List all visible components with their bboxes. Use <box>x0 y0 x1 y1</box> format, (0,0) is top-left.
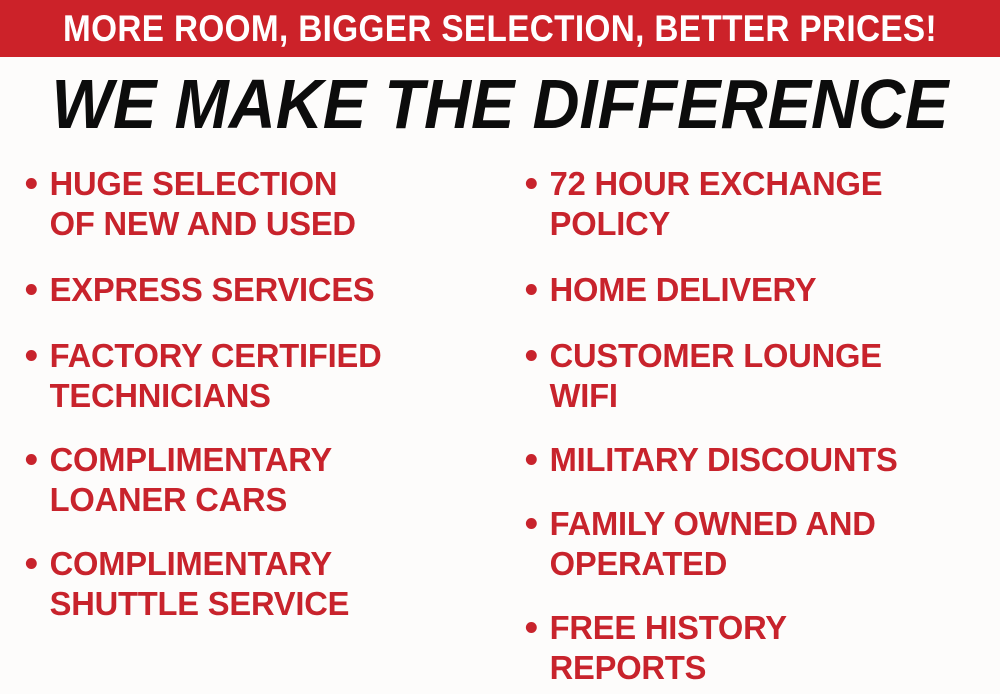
promo-poster: MORE ROOM, BIGGER SELECTION, BETTER PRIC… <box>0 0 1000 694</box>
bullet-dot-icon <box>526 518 537 529</box>
list-item: MILITARY DISCOUNTS <box>514 440 995 480</box>
list-item: CUSTOMER LOUNGE WIFI <box>514 336 995 416</box>
list-item: FREE HISTORY REPORTS <box>514 608 995 688</box>
bullet-dot-icon <box>26 284 37 295</box>
list-item: HOME DELIVERY <box>514 270 995 310</box>
list-item: EXPRESS SERVICES <box>14 270 495 310</box>
list-item: COMPLIMENTARY SHUTTLE SERVICE <box>14 544 495 624</box>
bullet-dot-icon <box>26 350 37 361</box>
list-item: FAMILY OWNED AND OPERATED <box>514 504 995 584</box>
list-item-label: FAMILY OWNED AND OPERATED <box>550 504 996 584</box>
list-item: FACTORY CERTIFIED TECHNICIANS <box>14 336 495 416</box>
list-item-label: COMPLIMENTARY SHUTTLE SERVICE <box>50 544 496 624</box>
bullet-dot-icon <box>526 454 537 465</box>
list-item-label: COMPLIMENTARY LOANER CARS <box>50 440 496 520</box>
bullet-dot-icon <box>526 622 537 633</box>
list-item-label: HUGE SELECTION OF NEW AND USED <box>50 164 496 244</box>
bullet-dot-icon <box>526 284 537 295</box>
list-item: COMPLIMENTARY LOANER CARS <box>14 440 495 520</box>
benefits-column-left: HUGE SELECTION OF NEW AND USED EXPRESS S… <box>14 158 500 694</box>
list-item-label: FACTORY CERTIFIED TECHNICIANS <box>50 336 496 416</box>
banner-headline-text: MORE ROOM, BIGGER SELECTION, BETTER PRIC… <box>50 0 950 57</box>
list-item-label: EXPRESS SERVICES <box>50 270 496 310</box>
benefits-columns: HUGE SELECTION OF NEW AND USED EXPRESS S… <box>0 158 1000 694</box>
list-item: 72 HOUR EXCHANGE POLICY <box>514 164 995 244</box>
list-item-label: CUSTOMER LOUNGE WIFI <box>550 336 996 416</box>
top-banner: MORE ROOM, BIGGER SELECTION, BETTER PRIC… <box>0 0 1000 57</box>
bullet-dot-icon <box>526 178 537 189</box>
benefits-column-right: 72 HOUR EXCHANGE POLICY HOME DELIVERY CU… <box>514 158 1000 694</box>
bullet-dot-icon <box>26 454 37 465</box>
page-title: WE MAKE THE DIFFERENCE <box>35 66 965 142</box>
list-item-label: 72 HOUR EXCHANGE POLICY <box>550 164 996 244</box>
bullet-dot-icon <box>26 558 37 569</box>
bullet-dot-icon <box>26 178 37 189</box>
list-item-label: MILITARY DISCOUNTS <box>550 440 996 480</box>
bullet-dot-icon <box>526 350 537 361</box>
list-item-label: FREE HISTORY REPORTS <box>550 608 996 688</box>
list-item-label: HOME DELIVERY <box>550 270 996 310</box>
list-item: HUGE SELECTION OF NEW AND USED <box>14 164 495 244</box>
